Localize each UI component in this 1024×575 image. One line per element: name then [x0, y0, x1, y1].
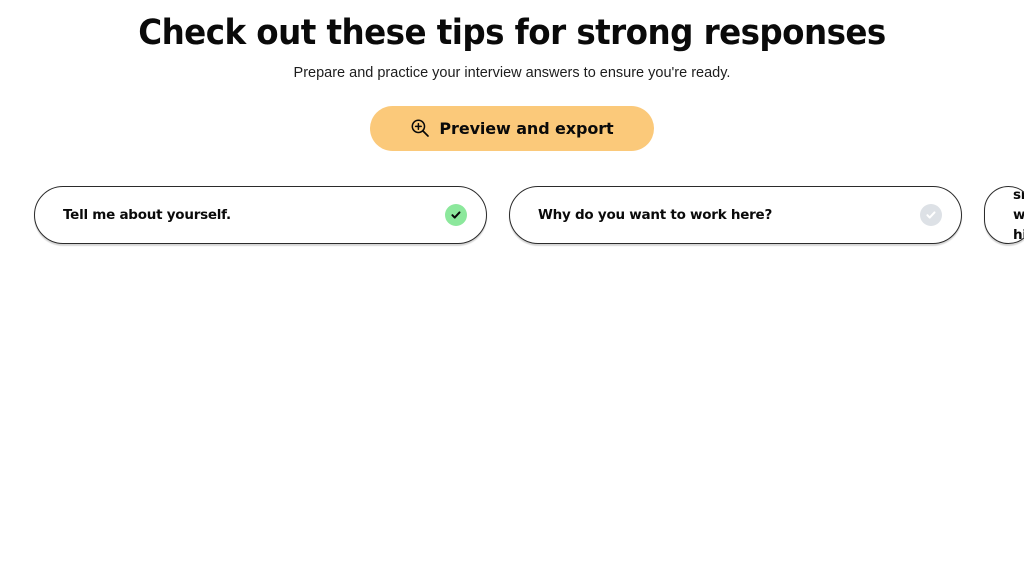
preview-and-export-button[interactable]: Preview and export	[370, 106, 653, 151]
tips-page: Check out these tips for strong response…	[0, 0, 1024, 575]
questions-grid: Tell me about yourself.Why do you want t…	[34, 186, 962, 244]
preview-and-export-label: Preview and export	[439, 119, 613, 138]
question-text: Why should we hire you?	[1013, 186, 1024, 244]
page-header: Check out these tips for strong response…	[0, 0, 1024, 83]
question-text: Why do you want to work here?	[538, 205, 772, 225]
question-card[interactable]: Tell me about yourself.	[34, 186, 487, 244]
page-subtitle: Prepare and practice your interview answ…	[0, 65, 1024, 82]
question-text: Tell me about yourself.	[63, 205, 231, 225]
cta-container: Preview and export	[0, 106, 1024, 151]
zoom-in-icon	[410, 118, 430, 138]
status-check-todo-icon[interactable]	[920, 204, 942, 226]
status-check-done-icon[interactable]	[445, 204, 467, 226]
page-title: Check out these tips for strong response…	[36, 14, 988, 53]
question-card[interactable]: Why should we hire you?	[984, 186, 1024, 244]
question-card[interactable]: Why do you want to work here?	[509, 186, 962, 244]
